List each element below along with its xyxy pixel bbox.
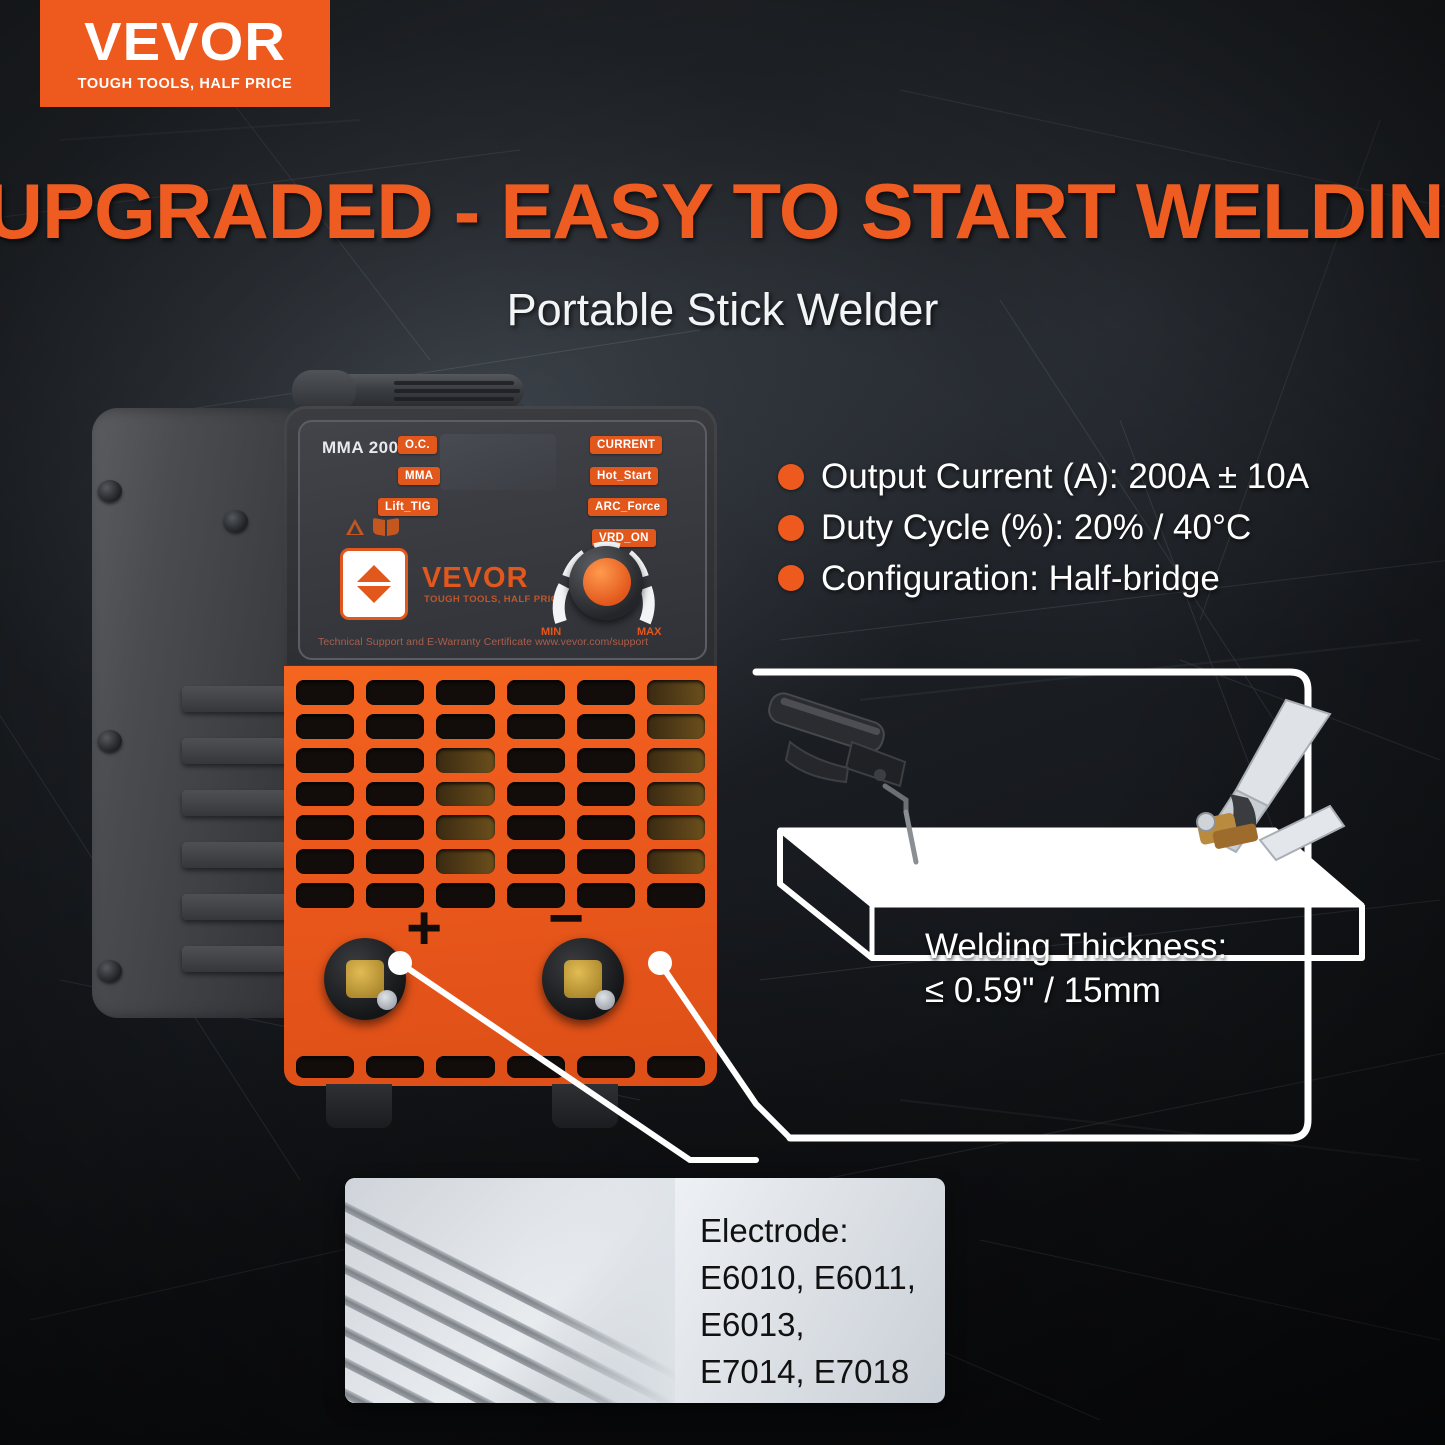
vent-slot xyxy=(647,815,705,840)
bullet-dot-icon xyxy=(778,515,804,541)
vent-slot xyxy=(436,883,494,908)
product-infographic: VEVOR TOUGH TOOLS, HALF PRICE UPGRADED -… xyxy=(0,0,1445,1445)
vent-slot xyxy=(647,883,705,908)
vent-slot xyxy=(296,849,354,874)
vevor-arrow-badge xyxy=(340,548,408,620)
vent-slot xyxy=(577,849,635,874)
tag-current: CURRENT xyxy=(590,436,662,454)
machine-foot xyxy=(552,1084,618,1128)
spec-text: Duty Cycle (%): 20% / 40°C xyxy=(821,509,1251,547)
logo-wordmark: VEVOR xyxy=(84,15,286,69)
vent-slot xyxy=(577,1056,635,1078)
manual-right-page xyxy=(387,518,399,536)
side-vent-fin xyxy=(182,894,294,920)
vent-slot xyxy=(296,815,354,840)
thickness-value: ≤ 0.59" / 15mm xyxy=(925,969,1227,1013)
vent-slot xyxy=(647,849,705,874)
vent-slot xyxy=(366,748,424,773)
vent-slot xyxy=(366,849,424,874)
warning-triangle-icon xyxy=(346,519,364,535)
vent-slot xyxy=(507,849,565,874)
terminal-nut xyxy=(377,990,397,1010)
photo-fade xyxy=(345,1178,675,1403)
vent-slot xyxy=(366,815,424,840)
vent-slot xyxy=(507,1056,565,1078)
read-manual-icon xyxy=(373,519,399,535)
knob-body[interactable] xyxy=(569,546,643,620)
side-vent-fin xyxy=(182,790,294,816)
tag-hot-start: Hot_Start xyxy=(590,467,658,485)
vent-slot xyxy=(366,782,424,807)
machine-front: MMA 200 O.C. MMA Lift_TIG CURRENT Hot_St… xyxy=(284,406,717,1106)
terminal-brass xyxy=(564,960,602,998)
vent-slot xyxy=(577,815,635,840)
vent-slot xyxy=(436,680,494,705)
side-screw xyxy=(98,730,122,752)
side-screw xyxy=(98,960,122,982)
tag-mma: MMA xyxy=(398,467,440,485)
spec-item: Configuration: Half-bridge xyxy=(778,560,1309,598)
vent-slot xyxy=(436,849,494,874)
vent-slot xyxy=(577,883,635,908)
side-vent-fin xyxy=(182,686,294,712)
machine-foot xyxy=(326,1084,392,1128)
side-vent-fin xyxy=(182,842,294,868)
machine-front-lower: + − xyxy=(284,666,717,1086)
vent-slot xyxy=(296,714,354,739)
machine-side-panel xyxy=(92,408,304,1018)
side-screw xyxy=(224,510,248,532)
vent-slot xyxy=(436,1056,494,1078)
vevor-logo: VEVOR TOUGH TOOLS, HALF PRICE xyxy=(40,0,330,107)
panel-brand-name: VEVOR xyxy=(422,562,529,595)
handle-rib xyxy=(394,381,514,385)
electrode-text: Electrode: E6010, E6011, E6013, E7014, E… xyxy=(700,1208,945,1395)
side-screw xyxy=(98,480,122,502)
handle-rib xyxy=(394,397,514,401)
vent-slot xyxy=(647,714,705,739)
warning-icons xyxy=(346,519,399,535)
current-knob[interactable]: MIN MAX xyxy=(545,530,661,636)
vent-slot xyxy=(366,680,424,705)
tag-arc-force: ARC_Force xyxy=(588,498,667,516)
electrode-card: Electrode: E6010, E6011, E6013, E7014, E… xyxy=(345,1178,945,1403)
model-label: MMA 200 xyxy=(322,438,399,458)
tag-lift-tig: Lift_TIG xyxy=(378,498,438,516)
vent-slot xyxy=(577,782,635,807)
vent-slot xyxy=(507,748,565,773)
spec-item: Output Current (A): 200A ± 10A xyxy=(778,458,1309,496)
tag-oc: O.C. xyxy=(398,436,437,454)
arrow-down-icon xyxy=(357,586,391,603)
terminal-brass xyxy=(346,960,384,998)
vent-grille-bottom xyxy=(296,1056,705,1078)
vent-slot xyxy=(577,748,635,773)
vent-slot xyxy=(577,680,635,705)
vent-slot xyxy=(296,1056,354,1078)
thickness-callout: Welding Thickness: ≤ 0.59" / 15mm xyxy=(925,925,1227,1013)
vent-slot xyxy=(296,883,354,908)
vent-slot xyxy=(647,1056,705,1078)
vent-slot xyxy=(366,714,424,739)
machine-front-upper: MMA 200 O.C. MMA Lift_TIG CURRENT Hot_St… xyxy=(284,406,717,668)
vent-slot xyxy=(436,748,494,773)
electrode-line-2: E7014, E7018 xyxy=(700,1349,945,1396)
logo-tagline: TOUGH TOOLS, HALF PRICE xyxy=(78,76,293,92)
panel-support-text: Technical Support and E-Warranty Certifi… xyxy=(318,636,648,648)
vent-slot xyxy=(436,714,494,739)
electrode-title: Electrode: xyxy=(700,1208,945,1255)
electrode-rods-photo xyxy=(345,1178,675,1403)
arrow-up-icon xyxy=(357,565,391,582)
vent-slot xyxy=(647,782,705,807)
terminal-positive-label: + xyxy=(406,898,442,960)
electrode-line-1: E6010, E6011, E6013, xyxy=(700,1255,945,1349)
vent-slot xyxy=(507,680,565,705)
spec-item: Duty Cycle (%): 20% / 40°C xyxy=(778,509,1309,547)
terminal-negative[interactable] xyxy=(542,938,624,1020)
vent-slot xyxy=(296,748,354,773)
side-vent-fin xyxy=(182,946,294,972)
panel-brand-tagline: TOUGH TOOLS, HALF PRICE xyxy=(424,594,565,605)
vent-slot xyxy=(507,782,565,807)
vent-slot xyxy=(436,782,494,807)
vent-slot xyxy=(647,680,705,705)
spec-text: Output Current (A): 200A ± 10A xyxy=(821,458,1309,496)
bullet-dot-icon xyxy=(778,464,804,490)
control-panel: MMA 200 O.C. MMA Lift_TIG CURRENT Hot_St… xyxy=(298,420,707,660)
thickness-title: Welding Thickness: xyxy=(925,925,1227,969)
page-headline: UPGRADED - EASY TO START WELDING xyxy=(0,172,1445,250)
vent-slot xyxy=(507,815,565,840)
vent-slot xyxy=(366,1056,424,1078)
vent-slot xyxy=(507,714,565,739)
spec-text: Configuration: Half-bridge xyxy=(821,560,1220,598)
manual-left-page xyxy=(373,518,385,536)
side-vent-fin xyxy=(182,738,294,764)
bullet-dot-icon xyxy=(778,565,804,591)
vent-grille xyxy=(296,680,705,908)
spec-list: Output Current (A): 200A ± 10A Duty Cycl… xyxy=(778,458,1309,610)
vent-slot xyxy=(436,815,494,840)
vent-slot xyxy=(577,714,635,739)
vent-slot xyxy=(296,680,354,705)
terminal-nut xyxy=(595,990,615,1010)
page-subheadline: Portable Stick Welder xyxy=(0,287,1445,332)
vent-slot xyxy=(296,782,354,807)
vent-slot xyxy=(647,748,705,773)
terminal-positive[interactable] xyxy=(324,938,406,1020)
knob-cap[interactable] xyxy=(583,558,631,606)
led-display xyxy=(440,434,556,490)
welder-machine: MMA 200 O.C. MMA Lift_TIG CURRENT Hot_St… xyxy=(92,368,717,1113)
handle-rib xyxy=(394,389,520,393)
